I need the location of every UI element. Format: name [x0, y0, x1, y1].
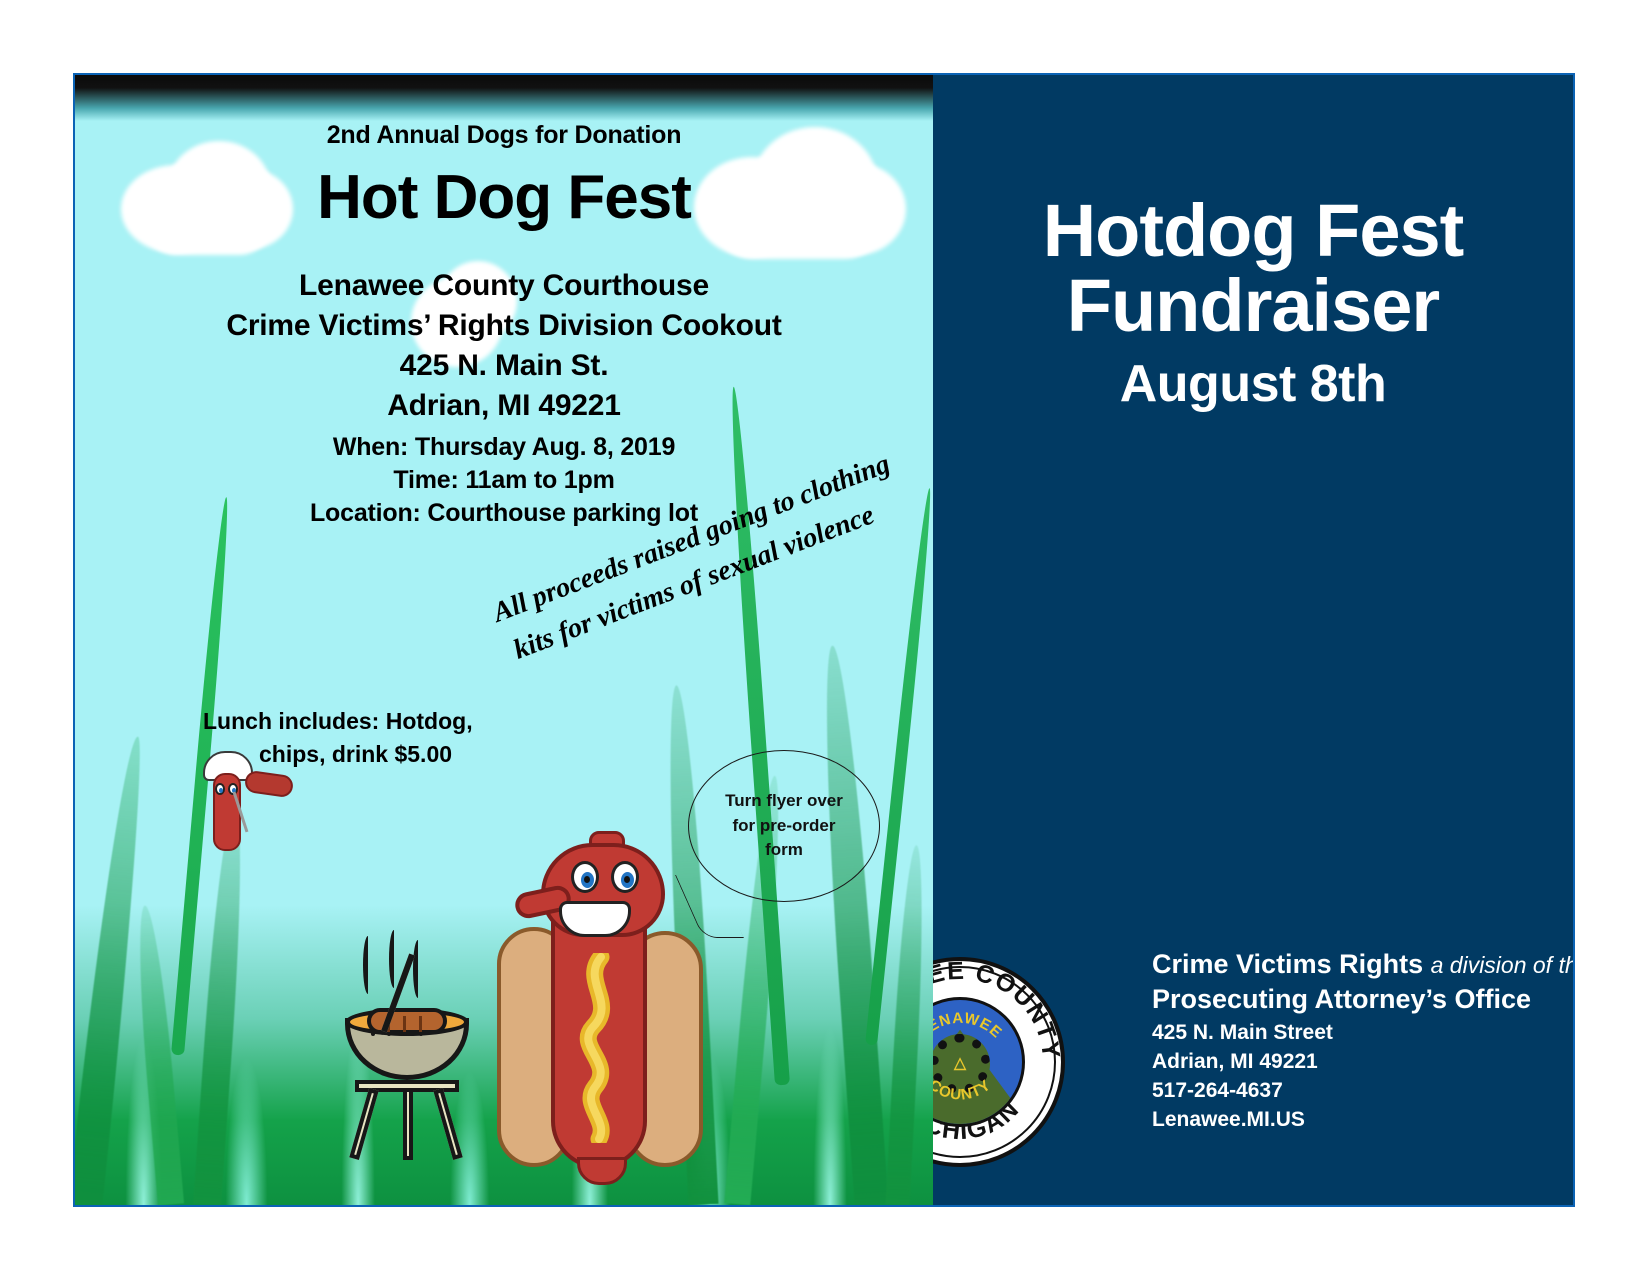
mascot-eye-right: [611, 861, 639, 893]
bubble-line-2: for pre-order: [725, 814, 843, 839]
chef-eye-left: [215, 783, 225, 795]
lunch-line-1: Lunch includes: Hotdog,: [203, 708, 473, 734]
bubble-line-1: Turn flyer over: [725, 789, 843, 814]
contact-org-sub: a division of the: [1431, 952, 1573, 978]
venue-line-1: Lenawee County Courthouse: [75, 269, 933, 303]
grill-leg: [433, 1088, 462, 1160]
contact-org-name: Crime Victims Rights: [1152, 949, 1423, 979]
contact-office: Prosecuting Attorney’s Office: [1152, 983, 1573, 1016]
headline-line-2: Fundraiser: [959, 268, 1547, 343]
contact-phone: 517-264-4637: [1152, 1078, 1573, 1104]
grill-leg: [349, 1088, 378, 1160]
svg-text:COUNTY: COUNTY: [933, 1076, 994, 1103]
mascot-foot: [577, 1157, 627, 1185]
speech-bubble: Turn flyer over for pre-order form: [688, 750, 880, 902]
chef-sausage-icon: [244, 770, 295, 798]
poster-title: Hot Dog Fest: [75, 162, 933, 233]
venue-street: 425 N. Main St.: [75, 349, 933, 383]
lenawee-county-seal-logo: LENAWEE COUNTY MICHIGAN ▵ LENAWEE: [933, 957, 1065, 1167]
seal-inner-text: LENAWEE COUNTY: [933, 1000, 1022, 1124]
seal-inner-top-text: LENAWEE: [933, 1010, 1005, 1042]
smoke-wisp: [363, 936, 373, 994]
contact-city: Adrian, MI 49221: [1152, 1049, 1573, 1075]
bubble-line-3: form: [725, 838, 843, 863]
poster-panel: 2nd Annual Dogs for Donation Hot Dog Fes…: [75, 75, 933, 1205]
event-date: When: Thursday Aug. 8, 2019: [75, 433, 933, 462]
seal-inner-disc: ▵ LENAWEE COUNTY: [933, 997, 1025, 1127]
contact-street: 425 N. Main Street: [1152, 1020, 1573, 1046]
grilling-sausage: [367, 1008, 447, 1034]
headline-line-1: Hotdog Fest: [959, 193, 1547, 268]
mascot-smile: [559, 901, 631, 937]
headline-date: August 8th: [959, 354, 1547, 414]
poster-text-block: 2nd Annual Dogs for Donation Hot Dog Fes…: [75, 75, 933, 528]
smoke-wisp: [389, 930, 399, 988]
grill-illustration: [337, 930, 477, 1160]
contact-block: Crime Victims Rights a division of the P…: [1152, 948, 1573, 1133]
contact-website: Lenawee.MI.US: [1152, 1107, 1573, 1133]
contact-org-line: Crime Victims Rights a division of the: [1152, 948, 1573, 981]
hotdog-mascot: [493, 835, 708, 1183]
chef-hotdog-icon: [187, 747, 297, 855]
flyer-canvas: 2nd Annual Dogs for Donation Hot Dog Fes…: [75, 75, 1573, 1205]
svg-text:LENAWEE: LENAWEE: [933, 1010, 1005, 1042]
poster-subtitle: 2nd Annual Dogs for Donation: [75, 121, 933, 150]
mascot-eye-left: [571, 861, 599, 893]
smoke-wisp: [413, 940, 423, 998]
navy-panel: Hotdog Fest Fundraiser August 8th LENAWE…: [933, 75, 1573, 1205]
venue-line-2: Crime Victims’ Rights Division Cookout: [75, 309, 933, 343]
grill-leg: [403, 1088, 413, 1160]
speech-bubble-text: Turn flyer over for pre-order form: [725, 789, 843, 863]
seal-inner-bottom-text: COUNTY: [933, 1076, 994, 1103]
mustard-squiggle: [575, 953, 621, 1143]
venue-city: Adrian, MI 49221: [75, 389, 933, 423]
panel-headline-block: Hotdog Fest Fundraiser August 8th: [933, 193, 1573, 414]
